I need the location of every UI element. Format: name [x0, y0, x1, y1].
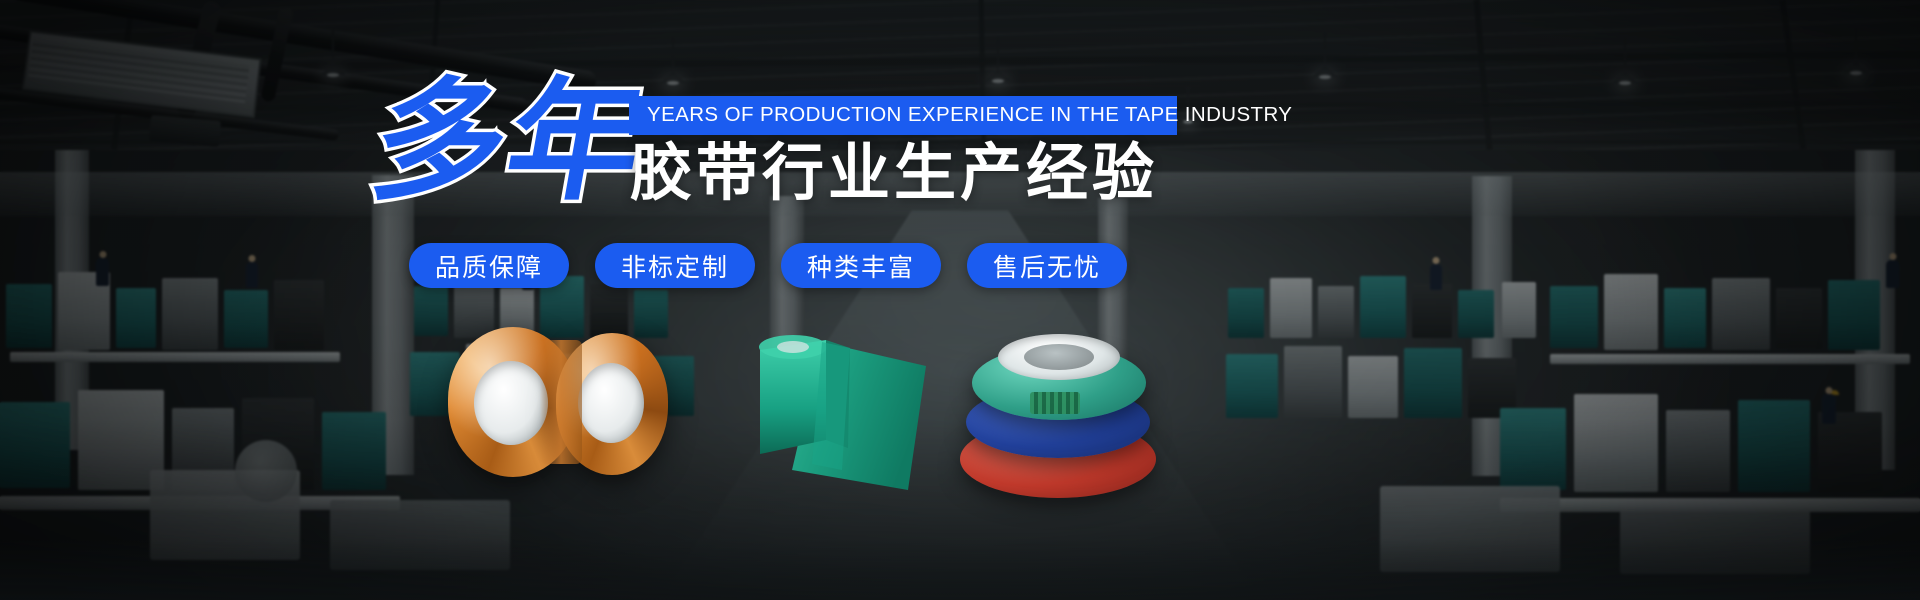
feature-pill-variety[interactable]: 种类丰富	[781, 243, 941, 288]
feature-pill-quality[interactable]: 品质保障	[409, 243, 569, 288]
feature-pill-list: 品质保障 非标定制 种类丰富 售后无忧	[409, 243, 1127, 288]
headline-years-cn: 多年	[363, 76, 654, 208]
english-tagline-text: YEARS OF PRODUCTION EXPERIENCE IN THE TA…	[647, 104, 1161, 126]
bottom-fade	[0, 540, 1920, 600]
promo-banner: 多年 YEARS OF PRODUCTION EXPERIENCE IN THE…	[0, 0, 1920, 600]
english-tagline-band: YEARS OF PRODUCTION EXPERIENCE IN THE TA…	[629, 96, 1177, 135]
banner-content: 多年 YEARS OF PRODUCTION EXPERIENCE IN THE…	[0, 0, 1920, 600]
feature-pill-custom[interactable]: 非标定制	[595, 243, 755, 288]
subtitle-cn: 胶带行业生产经验	[630, 140, 1158, 206]
feature-pill-aftersales[interactable]: 售后无忧	[967, 243, 1127, 288]
